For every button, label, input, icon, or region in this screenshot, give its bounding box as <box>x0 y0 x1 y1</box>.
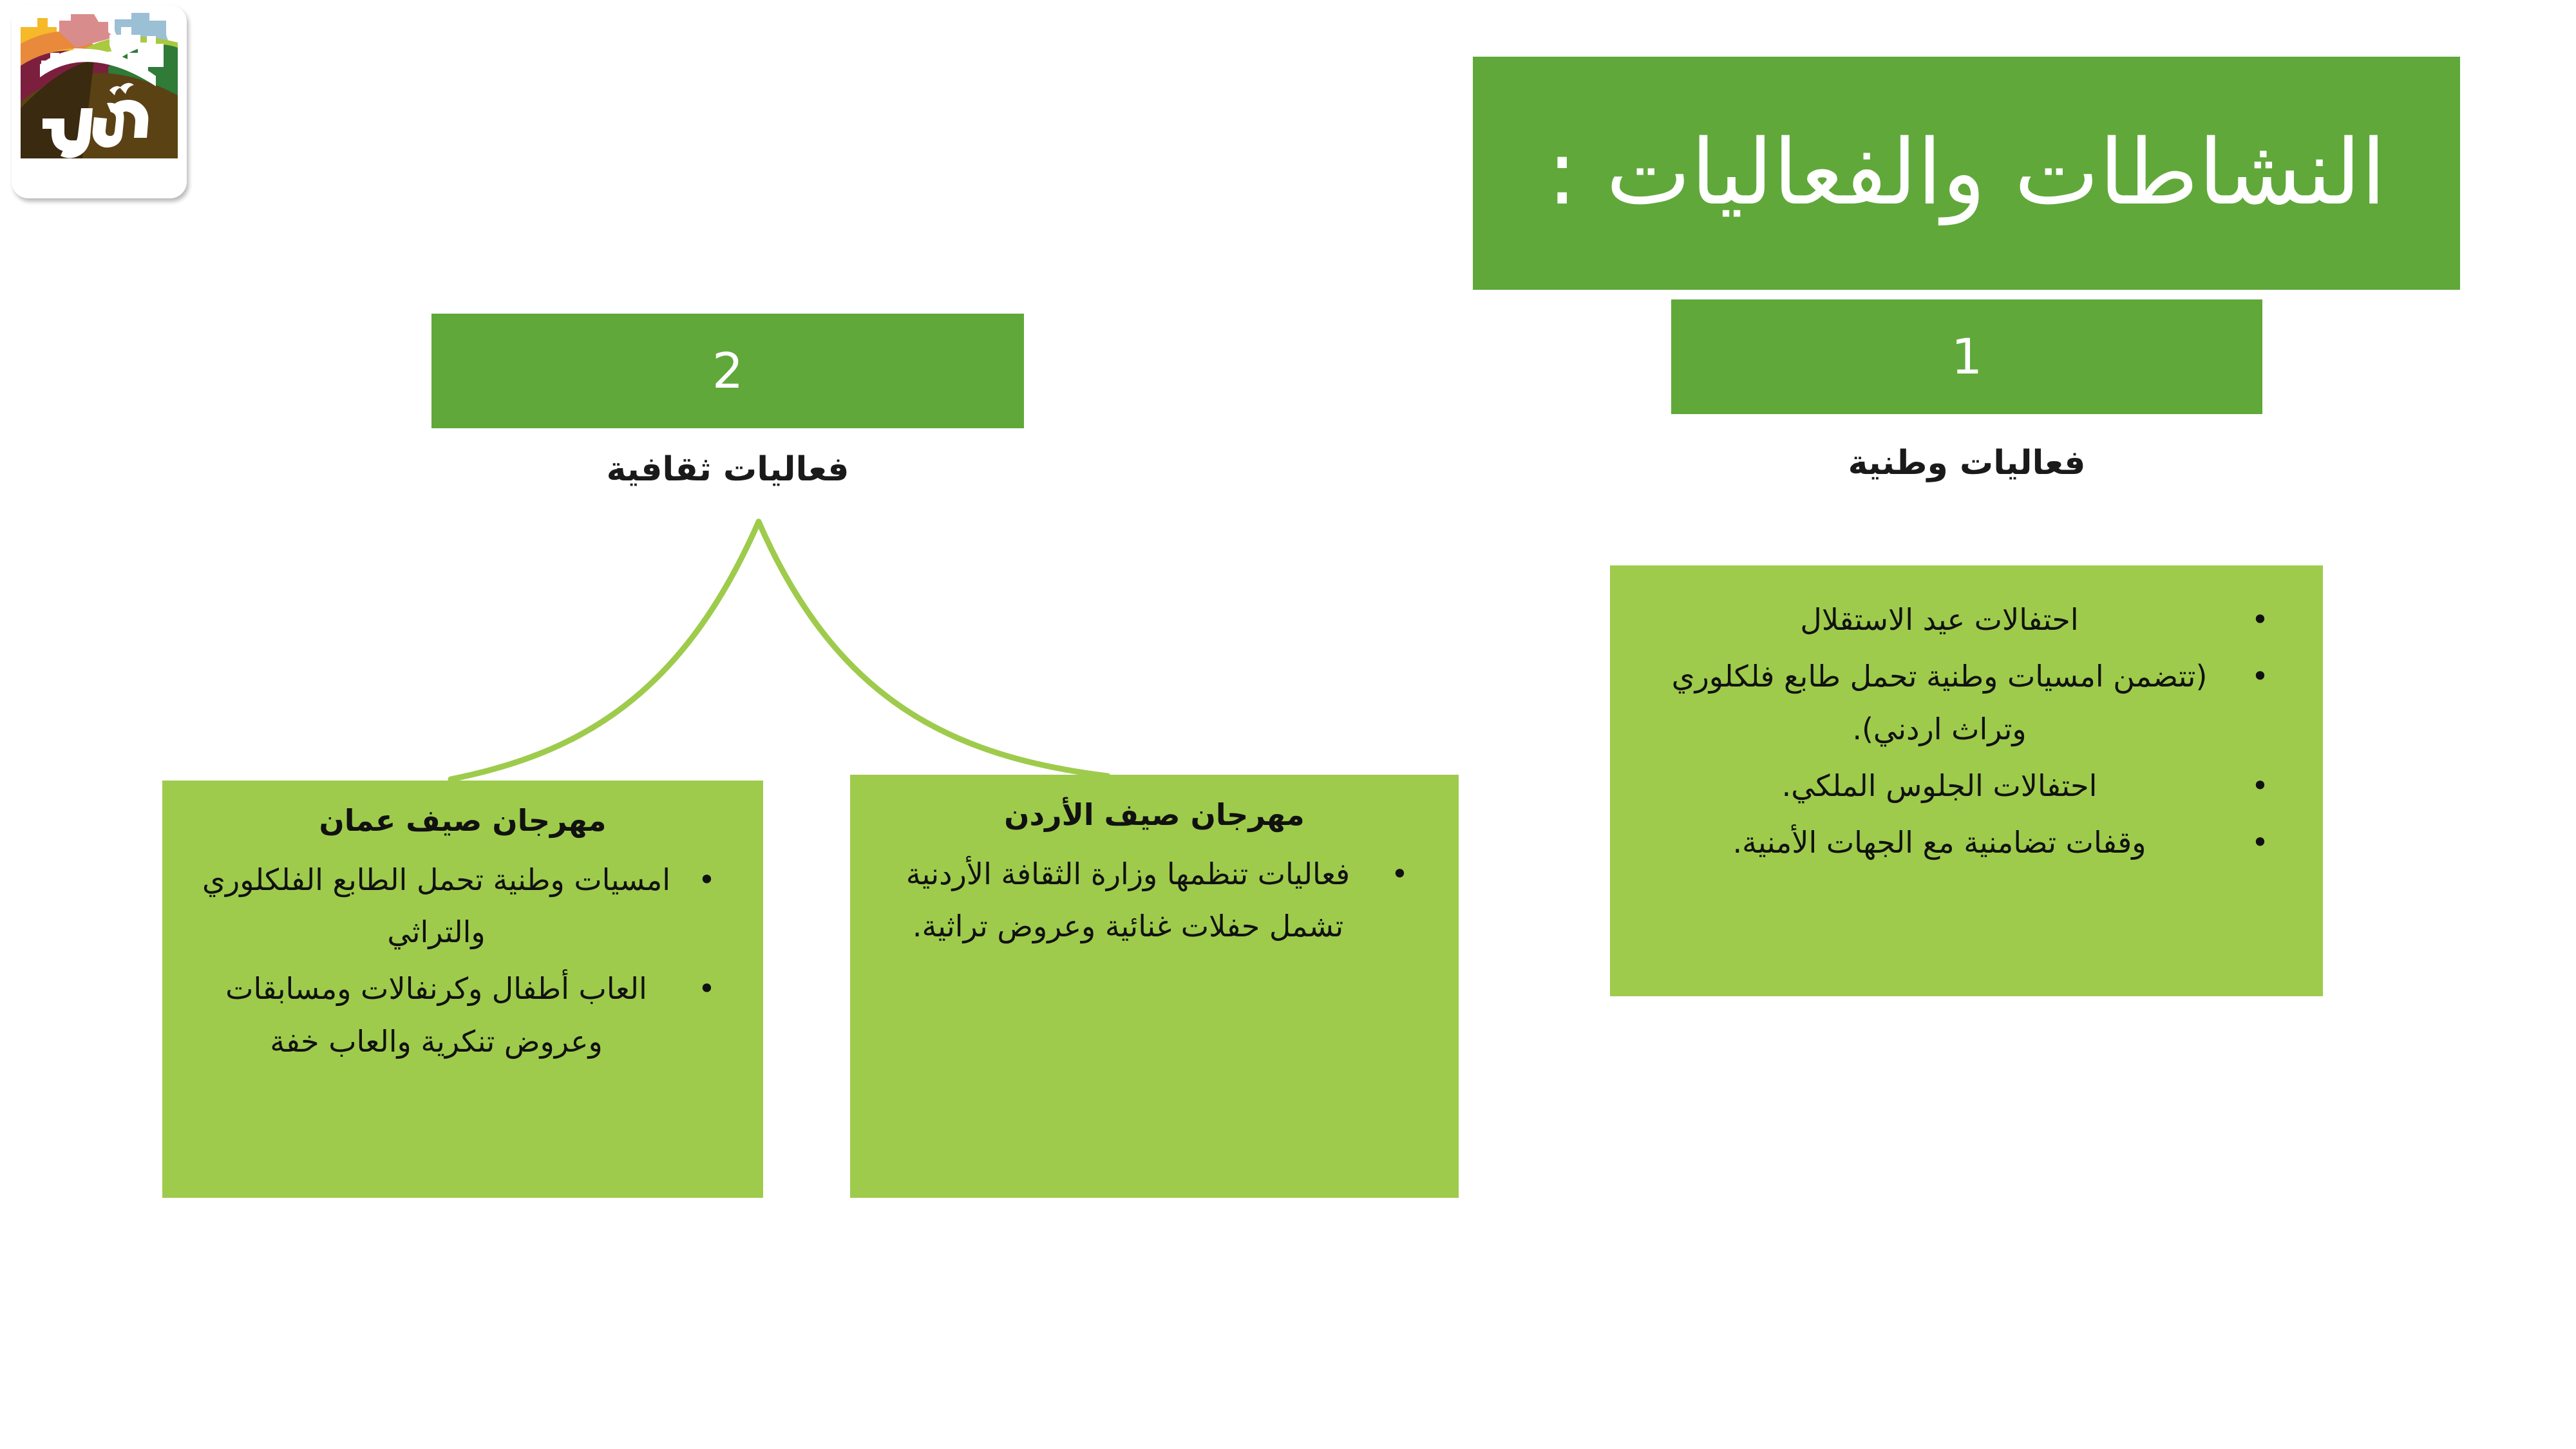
panel-heading-amman: مهرجان صيف عمان <box>162 781 763 844</box>
list-item: فعاليات تنظمها وزارة الثقافة الأردنية تش… <box>886 848 1417 954</box>
greater-amman-municipality-logo <box>12 5 187 198</box>
branch-number-box-1: 1 <box>1671 299 2262 414</box>
branch-label-2: فعاليات ثقافية <box>431 451 1024 489</box>
branch-number-2: 2 <box>712 346 743 395</box>
bullet-list-jordan: فعاليات تنظمها وزارة الثقافة الأردنية تش… <box>850 838 1459 954</box>
list-item: احتفالات الجلوس الملكي. <box>1649 760 2278 813</box>
page-title: النشاطات والفعاليات : <box>1547 124 2386 223</box>
panel-amman-summer-festival: مهرجان صيف عمان امسيات وطنية تحمل الطابع… <box>162 781 763 1198</box>
list-item: امسيات وطنية تحمل الطابع الفلكلوري والتر… <box>196 854 724 960</box>
bullet-list-amman: امسيات وطنية تحمل الطابع الفلكلوري والتر… <box>162 844 763 1069</box>
list-item: وقفات تضامنية مع الجهات الأمنية. <box>1649 817 2278 869</box>
branch-number-box-2: 2 <box>431 314 1024 428</box>
bullet-list-national: احتفالات عيد الاستقلال (تتضمن امسيات وطن… <box>1610 565 2323 869</box>
list-item: العاب أطفال وكرنفالات ومسابقات وعروض تنك… <box>196 963 724 1068</box>
slide-title-bar: النشاطات والفعاليات : <box>1473 57 2460 290</box>
panel-national-events: احتفالات عيد الاستقلال (تتضمن امسيات وطن… <box>1610 565 2323 996</box>
list-item: احتفالات عيد الاستقلال <box>1649 594 2278 647</box>
slide-canvas: النشاطات والفعاليات : 1 فعاليات وطنية اح… <box>0 0 2576 1449</box>
branch-number-1: 1 <box>1951 332 1982 381</box>
branch-label-1: فعاليات وطنية <box>1671 444 2262 483</box>
panel-heading-jordan: مهرجان صيف الأردن <box>850 775 1459 838</box>
panel-jordan-summer-festival: مهرجان صيف الأردن فعاليات تنظمها وزارة ا… <box>850 775 1459 1198</box>
list-item: (تتضمن امسيات وطنية تحمل طابع فلكلوري وت… <box>1649 650 2278 756</box>
